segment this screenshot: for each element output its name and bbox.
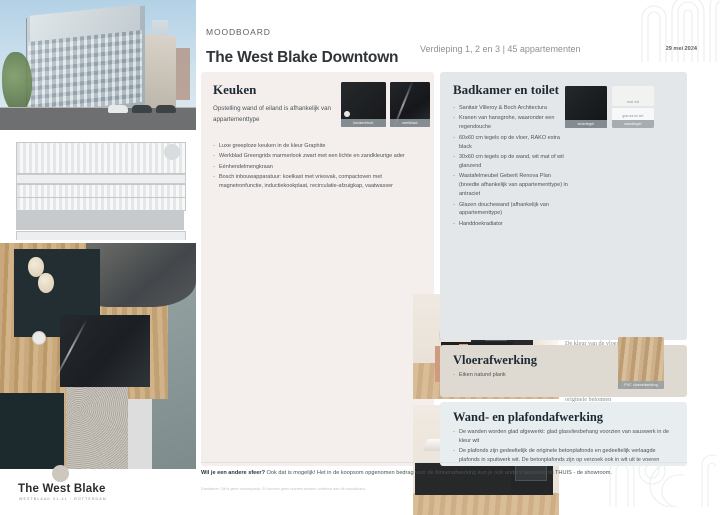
list-item: 60x60 cm tegels op de vloer, RAKO extra … bbox=[453, 134, 571, 152]
sample-sticker-icon bbox=[344, 111, 350, 117]
list-item: Kranen van hansgrohe, waaronder een rege… bbox=[453, 114, 571, 132]
swatch-label: keukenfront bbox=[341, 119, 386, 127]
kicker-label: MOODBOARD bbox=[206, 27, 271, 37]
list-item: Bosch inbouwapparatuur: koelkast met vri… bbox=[213, 173, 427, 191]
leather-fabric-sample bbox=[86, 243, 196, 307]
swatch-pvc-vloer: PVC vloerafwerking bbox=[618, 337, 664, 389]
swatch-label: glanzend wit bbox=[612, 112, 654, 120]
swatch-keukenfront: keukenfront bbox=[341, 82, 386, 127]
street-tree bbox=[2, 52, 32, 112]
page-subtitle: Verdieping 1, 2 en 3 | 45 appartementen bbox=[420, 44, 580, 54]
swatch-glanzend-wit: glanzend wit wandtegel bbox=[612, 108, 654, 128]
list-item: Luxe greeploze keuken in de kleur Graphi… bbox=[213, 142, 427, 151]
footer-divider bbox=[201, 462, 687, 463]
swatch-mat-wit: mat wit bbox=[612, 86, 654, 106]
facade-window-grid bbox=[28, 30, 142, 114]
badkamer-heading: Badkamer en toilet bbox=[453, 82, 559, 98]
wand-plafondafwerking-panel: Wand- en plafondafwerking De wanden word… bbox=[440, 402, 687, 466]
swatch-vloertegel: vloertegel bbox=[565, 86, 607, 128]
keuken-intro-text: Opstelling wand of eiland is afhankelijk… bbox=[213, 104, 333, 126]
dark-front-sample bbox=[0, 393, 64, 469]
badkamer-panel: Badkamer en toilet Sanitair Villeroy & B… bbox=[440, 72, 687, 340]
swatch-label: mat wit bbox=[612, 98, 654, 106]
page-title: The West Blake Downtown bbox=[206, 49, 398, 67]
list-item: Handdoekradiator bbox=[453, 220, 571, 229]
keuken-heading: Keuken bbox=[213, 82, 256, 98]
logo-mark-icon bbox=[52, 465, 69, 482]
vloer-spec-list: Eiken naturel plank bbox=[453, 371, 613, 381]
page-header: MOODBOARD The West Blake Downtown Verdie… bbox=[196, 0, 720, 68]
swatch-label: wandtegel bbox=[612, 120, 654, 128]
swatch-werkblad: werkblad bbox=[390, 82, 430, 127]
elevation-plinth bbox=[16, 210, 184, 230]
parked-car bbox=[132, 105, 152, 113]
parked-car bbox=[108, 105, 128, 113]
carpet-sample bbox=[66, 383, 128, 469]
parked-car bbox=[156, 105, 176, 113]
list-item: De wanden worden glad afgewerkt: glad gl… bbox=[453, 428, 675, 446]
garlic-bulb bbox=[38, 273, 54, 293]
elevation-logo-circle bbox=[164, 144, 180, 160]
left-image-column: The West Blake WESTBLAAK 31-41 · ROTTERD… bbox=[0, 0, 196, 509]
sample-sticker bbox=[32, 331, 46, 345]
list-item: 30x60 cm tegels op de wand, wit mat of w… bbox=[453, 153, 571, 171]
list-item: Eénhendelmengkraan bbox=[213, 163, 427, 172]
elevation-band bbox=[16, 184, 186, 198]
list-item: Eiken naturel plank bbox=[453, 371, 613, 380]
wand-heading: Wand- en plafondafwerking bbox=[453, 410, 603, 425]
building-render-photo bbox=[0, 0, 196, 130]
facade-elevation-drawing bbox=[4, 134, 192, 240]
elevation-band bbox=[16, 197, 186, 211]
black-marble-worktop-sample bbox=[60, 315, 150, 387]
footer-cta-text: Ook dat is mogelijk! Het in de koopsom o… bbox=[265, 470, 612, 476]
vloer-heading: Vloerafwerking bbox=[453, 353, 537, 368]
footer-disclaimer: Disclaimer: Dit is geen verkoopstuk. Er … bbox=[201, 487, 501, 491]
material-flatlay-photo bbox=[0, 243, 196, 469]
badkamer-spec-list: Sanitair Villeroy & Boch Architectura Kr… bbox=[453, 104, 571, 230]
footer-cta: Wil je een andere sfeer? Ook dat is moge… bbox=[201, 470, 687, 476]
list-item: Wastafelmeubel Geberit Renova Plan (bree… bbox=[453, 172, 571, 199]
footer-cta-bold: Wil je een andere sfeer? bbox=[201, 470, 265, 476]
logo-subtitle: WESTBLAAK 31-41 · ROTTERDAM bbox=[19, 497, 107, 501]
list-item: Sanitair Villeroy & Boch Architectura bbox=[453, 104, 571, 113]
elevation-band bbox=[16, 142, 186, 174]
logo-name: The West Blake bbox=[18, 483, 106, 495]
list-item: Werkblad Greengrids marmerlook zwart met… bbox=[213, 152, 427, 161]
elevation-ground-floor bbox=[16, 231, 186, 240]
wood-floor bbox=[413, 493, 559, 515]
keuken-spec-list: Luxe greeploze keuken in de kleur Graphi… bbox=[213, 142, 427, 193]
list-item: Glazen douchewand (afhankelijk van appar… bbox=[453, 201, 571, 219]
brand-logo: The West Blake WESTBLAAK 31-41 · ROTTERD… bbox=[0, 469, 196, 509]
wand-spec-list: De wanden worden glad afgewerkt: glad gl… bbox=[453, 428, 675, 467]
swatch-label: vloertegel bbox=[565, 120, 607, 128]
elevation-band bbox=[16, 174, 186, 184]
page-date: 29 mei 2024 bbox=[666, 46, 697, 52]
swatch-label: PVC vloerafwerking bbox=[618, 381, 664, 389]
swatch-label: werkblad bbox=[390, 119, 430, 127]
keuken-panel: Keuken Opstelling wand of eiland is afha… bbox=[201, 72, 434, 466]
vloerafwerking-panel: Vloerafwerking Eiken naturel plank PVC v… bbox=[440, 345, 687, 397]
